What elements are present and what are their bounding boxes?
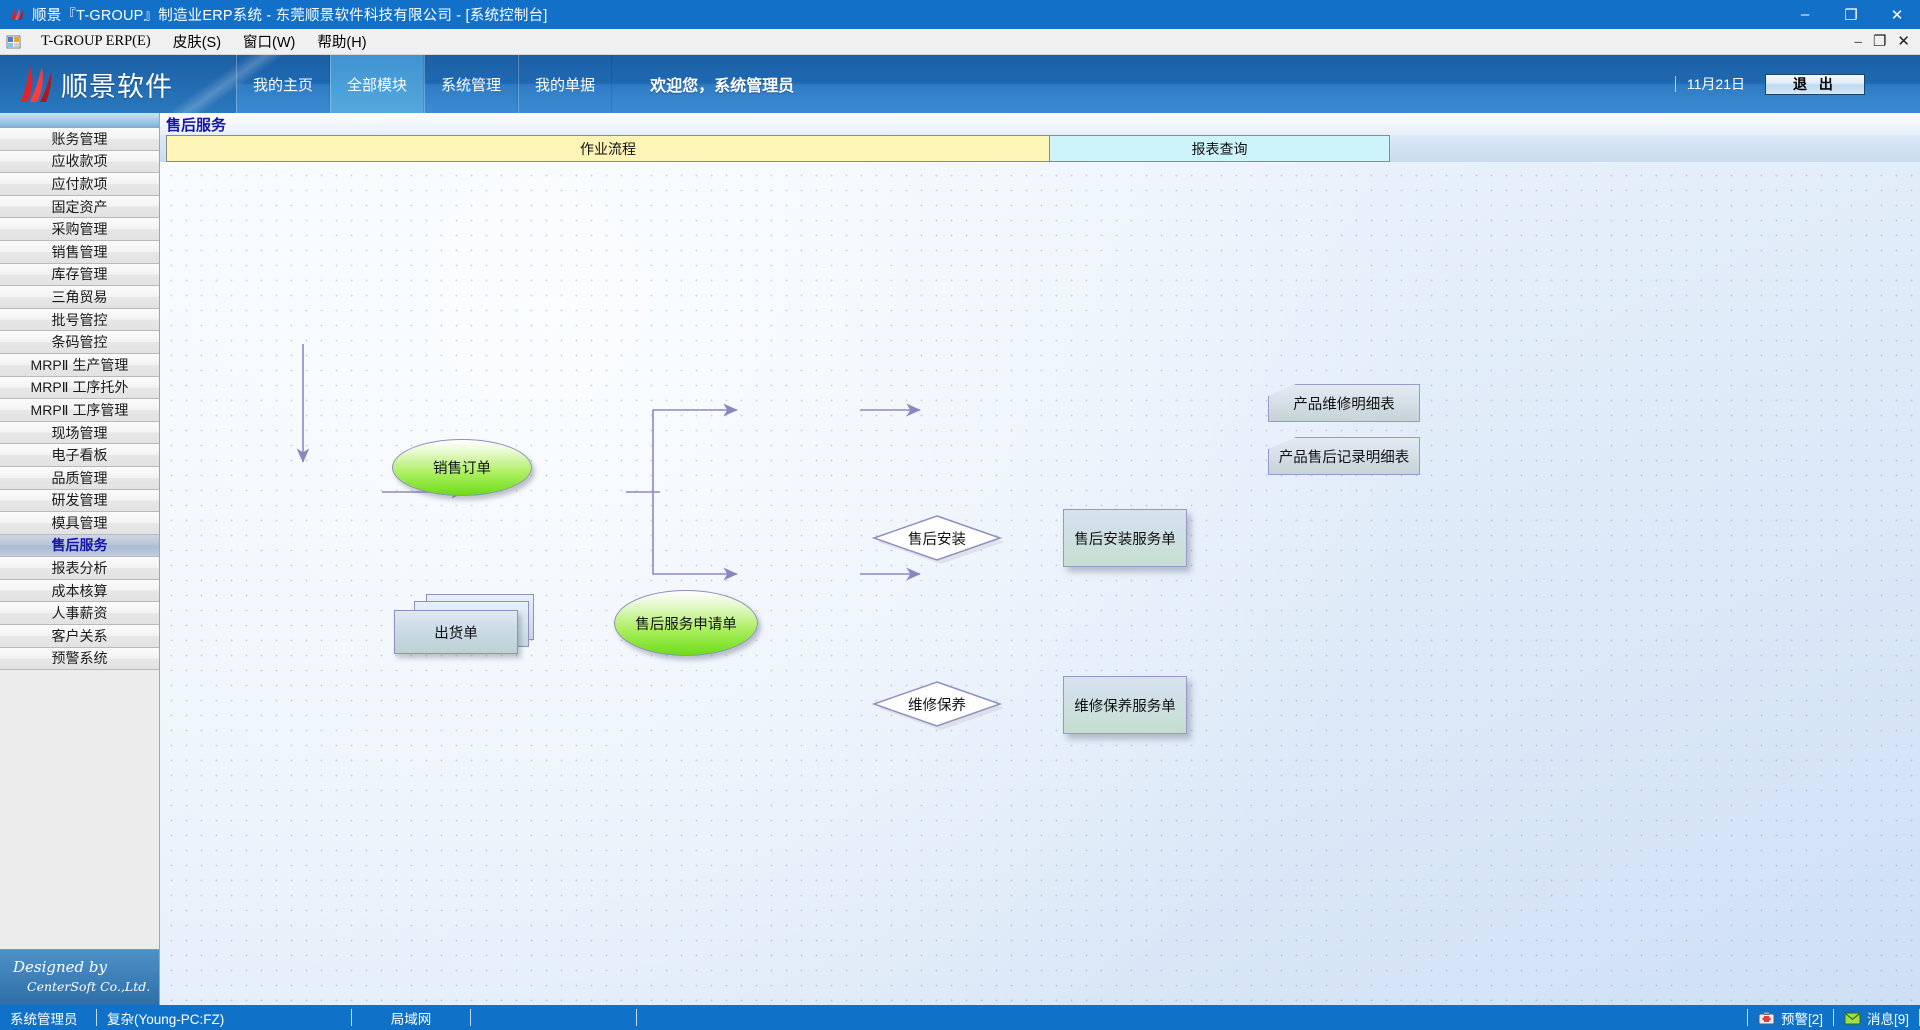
menu-item-help[interactable]: 帮助(H) bbox=[306, 28, 377, 55]
status-slot-4 bbox=[471, 1005, 636, 1030]
status-db: 复杂(Young-PC:FZ) bbox=[97, 1005, 351, 1030]
sidebar-item-报表分析[interactable]: 报表分析 bbox=[0, 557, 159, 580]
designed-by-label: Designed by bbox=[13, 958, 159, 976]
sidebar-item-条码管控[interactable]: 条码管控 bbox=[0, 331, 159, 354]
envelope-icon bbox=[1844, 1011, 1861, 1025]
flow-node-after-install[interactable]: 售后安装 bbox=[872, 514, 1002, 562]
flow-node-shipping-order-label: 出货单 bbox=[394, 610, 518, 654]
report-node-service-record[interactable]: 产品售后记录明细表 bbox=[1268, 437, 1420, 475]
sidebar-item-应付款项[interactable]: 应付款项 bbox=[0, 173, 159, 196]
flow-node-maintain-service[interactable]: 维修保养服务单 bbox=[1063, 676, 1187, 734]
sidebar-filler bbox=[0, 670, 159, 949]
page-body: 账务管理 应收款项 应付款项 固定资产 采购管理 销售管理 库存管理 三角贸易 … bbox=[0, 113, 1920, 1005]
sidebar-item-mrp2-生产管理[interactable]: MRPⅡ 生产管理 bbox=[0, 354, 159, 377]
flow-canvas: 销售订单 出货单 售后服务申请单 售后安装 bbox=[160, 162, 1920, 1005]
tab-报表查询[interactable]: 报表查询 bbox=[1050, 135, 1390, 162]
status-network: 局域网 bbox=[352, 1005, 470, 1030]
sidebar-item-售后服务[interactable]: 售后服务 bbox=[0, 535, 159, 558]
sidebar-item-研发管理[interactable]: 研发管理 bbox=[0, 490, 159, 513]
window-titlebar: 顺景『T-GROUP』制造业ERP系统 - 东莞顺景软件科技有限公司 - [系统… bbox=[0, 0, 1920, 29]
sidebar-item-账务管理[interactable]: 账务管理 bbox=[0, 128, 159, 151]
mdi-close-button[interactable]: ✕ bbox=[1897, 35, 1910, 50]
flow-node-maintenance[interactable]: 维修保养 bbox=[872, 680, 1002, 728]
status-slot-5 bbox=[637, 1005, 1747, 1030]
main-content: 售后服务 作业流程 报表查询 bbox=[160, 113, 1920, 1005]
header-date: 11月21日 bbox=[1675, 74, 1745, 94]
sidebar-item-固定资产[interactable]: 固定资产 bbox=[0, 196, 159, 219]
sidebar-item-mrp2-工序管理[interactable]: MRPⅡ 工序管理 bbox=[0, 399, 159, 422]
sidebar-item-现场管理[interactable]: 现场管理 bbox=[0, 422, 159, 445]
sidebar-item-mrp2-工序托外[interactable]: MRPⅡ 工序托外 bbox=[0, 377, 159, 400]
status-messages[interactable]: 消息[9] bbox=[1834, 1005, 1919, 1030]
app-logo-icon bbox=[9, 7, 25, 23]
menu-item-skin[interactable]: 皮肤(S) bbox=[162, 28, 232, 55]
flow-node-after-install-label: 售后安装 bbox=[872, 514, 1002, 562]
menubar: T-GROUP ERP(E) 皮肤(S) 窗口(W) 帮助(H) – ❐ ✕ bbox=[0, 29, 1920, 55]
status-user: 系统管理员 bbox=[0, 1005, 96, 1030]
brand-area: 顺景软件 bbox=[0, 55, 236, 113]
sidebar-footer: Designed by CenterSoft Co.,Ltd. bbox=[0, 949, 159, 1005]
sidebar-item-电子看板[interactable]: 电子看板 bbox=[0, 444, 159, 467]
sidebar-item-成本核算[interactable]: 成本核算 bbox=[0, 580, 159, 603]
company-label: CenterSoft Co.,Ltd. bbox=[27, 979, 159, 994]
sidebar-item-客户关系[interactable]: 客户关系 bbox=[0, 625, 159, 648]
status-messages-label: 消息[9] bbox=[1867, 1008, 1909, 1028]
menu-item-erp[interactable]: T-GROUP ERP(E) bbox=[30, 30, 162, 53]
nav-my-documents[interactable]: 我的单据 bbox=[518, 55, 612, 113]
nav-system-management[interactable]: 系统管理 bbox=[424, 55, 518, 113]
sidebar: 账务管理 应收款项 应付款项 固定资产 采购管理 销售管理 库存管理 三角贸易 … bbox=[0, 113, 160, 1005]
mdi-window-controls: – ❐ ✕ bbox=[1854, 29, 1916, 55]
header-date-text: 11月21日 bbox=[1687, 74, 1745, 94]
menu-item-window[interactable]: 窗口(W) bbox=[232, 28, 306, 55]
sidebar-item-品质管理[interactable]: 品质管理 bbox=[0, 467, 159, 490]
header-nav: 我的主页 全部模块 系统管理 我的单据 bbox=[236, 55, 612, 113]
status-alerts-label: 预警[2] bbox=[1781, 1008, 1823, 1028]
statusbar: 系统管理员 复杂(Young-PC:FZ) 局域网 预警[2] 消息[9] bbox=[0, 1005, 1920, 1030]
sidebar-item-应收款项[interactable]: 应收款项 bbox=[0, 151, 159, 174]
window-maximize-button[interactable]: ❐ bbox=[1828, 0, 1874, 29]
window-close-button[interactable]: ✕ bbox=[1874, 0, 1920, 29]
sidebar-cap bbox=[0, 113, 159, 128]
flow-node-install-service[interactable]: 售后安装服务单 bbox=[1063, 509, 1187, 567]
app-header: 顺景软件 我的主页 全部模块 系统管理 我的单据 欢迎您，系统管理员 11月21… bbox=[0, 55, 1920, 113]
welcome-message: 欢迎您，系统管理员 bbox=[612, 55, 794, 113]
sidebar-item-三角贸易[interactable]: 三角贸易 bbox=[0, 286, 159, 309]
sidebar-item-采购管理[interactable]: 采购管理 bbox=[0, 218, 159, 241]
sidebar-item-预警系统[interactable]: 预警系统 bbox=[0, 648, 159, 671]
alert-kit-icon bbox=[1758, 1011, 1775, 1025]
flow-node-shipping-order[interactable]: 出货单 bbox=[394, 594, 534, 652]
window-minimize-button[interactable]: – bbox=[1782, 0, 1828, 29]
window-controls: – ❐ ✕ bbox=[1782, 0, 1920, 29]
status-alerts[interactable]: 预警[2] bbox=[1748, 1005, 1833, 1030]
flow-node-service-request[interactable]: 售后服务申请单 bbox=[614, 590, 758, 656]
nav-all-modules[interactable]: 全部模块 bbox=[330, 55, 424, 113]
logout-button[interactable]: 退 出 bbox=[1765, 74, 1865, 95]
sidebar-item-批号管控[interactable]: 批号管控 bbox=[0, 309, 159, 332]
tab-作业流程[interactable]: 作业流程 bbox=[166, 135, 1050, 162]
sidebar-item-人事薪资[interactable]: 人事薪资 bbox=[0, 602, 159, 625]
window-title: 顺景『T-GROUP』制造业ERP系统 - 东莞顺景软件科技有限公司 - [系统… bbox=[32, 4, 548, 25]
brand-name: 顺景软件 bbox=[61, 65, 173, 104]
report-node-repair-detail[interactable]: 产品维修明细表 bbox=[1268, 384, 1420, 422]
header-right: 11月21日 退 出 bbox=[1675, 55, 1920, 113]
flow-node-sales-order[interactable]: 销售订单 bbox=[392, 439, 532, 496]
flow-node-maintenance-label: 维修保养 bbox=[872, 680, 1002, 728]
page-title: 售后服务 bbox=[160, 113, 1920, 135]
mdi-minimize-button[interactable]: – bbox=[1854, 35, 1862, 50]
sidebar-item-销售管理[interactable]: 销售管理 bbox=[0, 241, 159, 264]
sidebar-item-库存管理[interactable]: 库存管理 bbox=[0, 264, 159, 287]
mdi-window-icon bbox=[6, 34, 22, 50]
shunjing-logo-icon bbox=[16, 64, 54, 104]
header-date-separator bbox=[1675, 76, 1676, 92]
sidebar-item-模具管理[interactable]: 模具管理 bbox=[0, 512, 159, 535]
mdi-restore-button[interactable]: ❐ bbox=[1873, 35, 1886, 50]
tab-bar: 作业流程 报表查询 bbox=[160, 135, 1920, 162]
flow-canvas-area: 销售订单 出货单 售后服务申请单 售后安装 bbox=[160, 162, 1920, 1005]
